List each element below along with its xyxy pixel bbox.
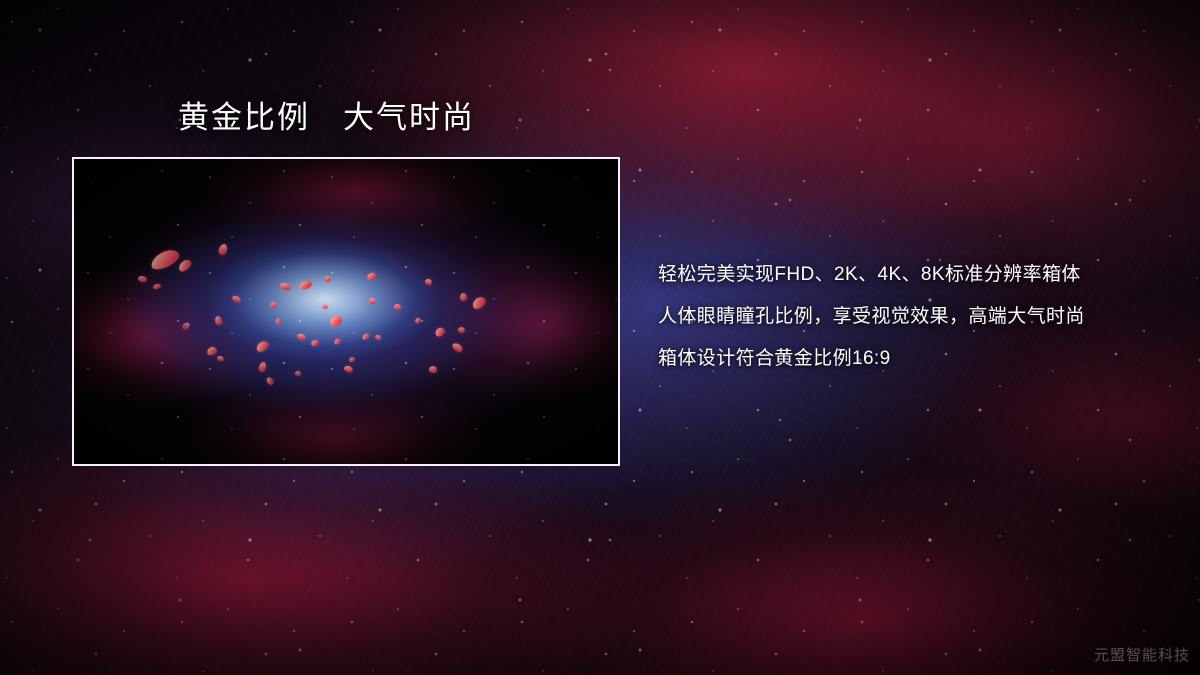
image-vignette xyxy=(74,159,618,464)
watermark: 元盟智能科技 xyxy=(1094,644,1190,665)
body-line-1: 轻松完美实现FHD、2K、4K、8K标准分辨率箱体 xyxy=(658,254,1158,296)
image-canvas xyxy=(74,159,618,464)
presentation-slide: 黄金比例 大气时尚 轻松完美实现FHD、2K、4K、8K标准分辨率箱体 人体眼睛… xyxy=(0,0,1200,675)
body-line-3: 箱体设计符合黄金比例16:9 xyxy=(658,338,1158,380)
body-line-2: 人体眼睛瞳孔比例，享受视觉效果，高端大气时尚 xyxy=(658,296,1158,338)
slide-title: 黄金比例 大气时尚 xyxy=(178,98,475,138)
body-copy: 轻松完美实现FHD、2K、4K、8K标准分辨率箱体 人体眼睛瞳孔比例，享受视觉效… xyxy=(658,254,1158,380)
framed-image xyxy=(72,157,620,466)
